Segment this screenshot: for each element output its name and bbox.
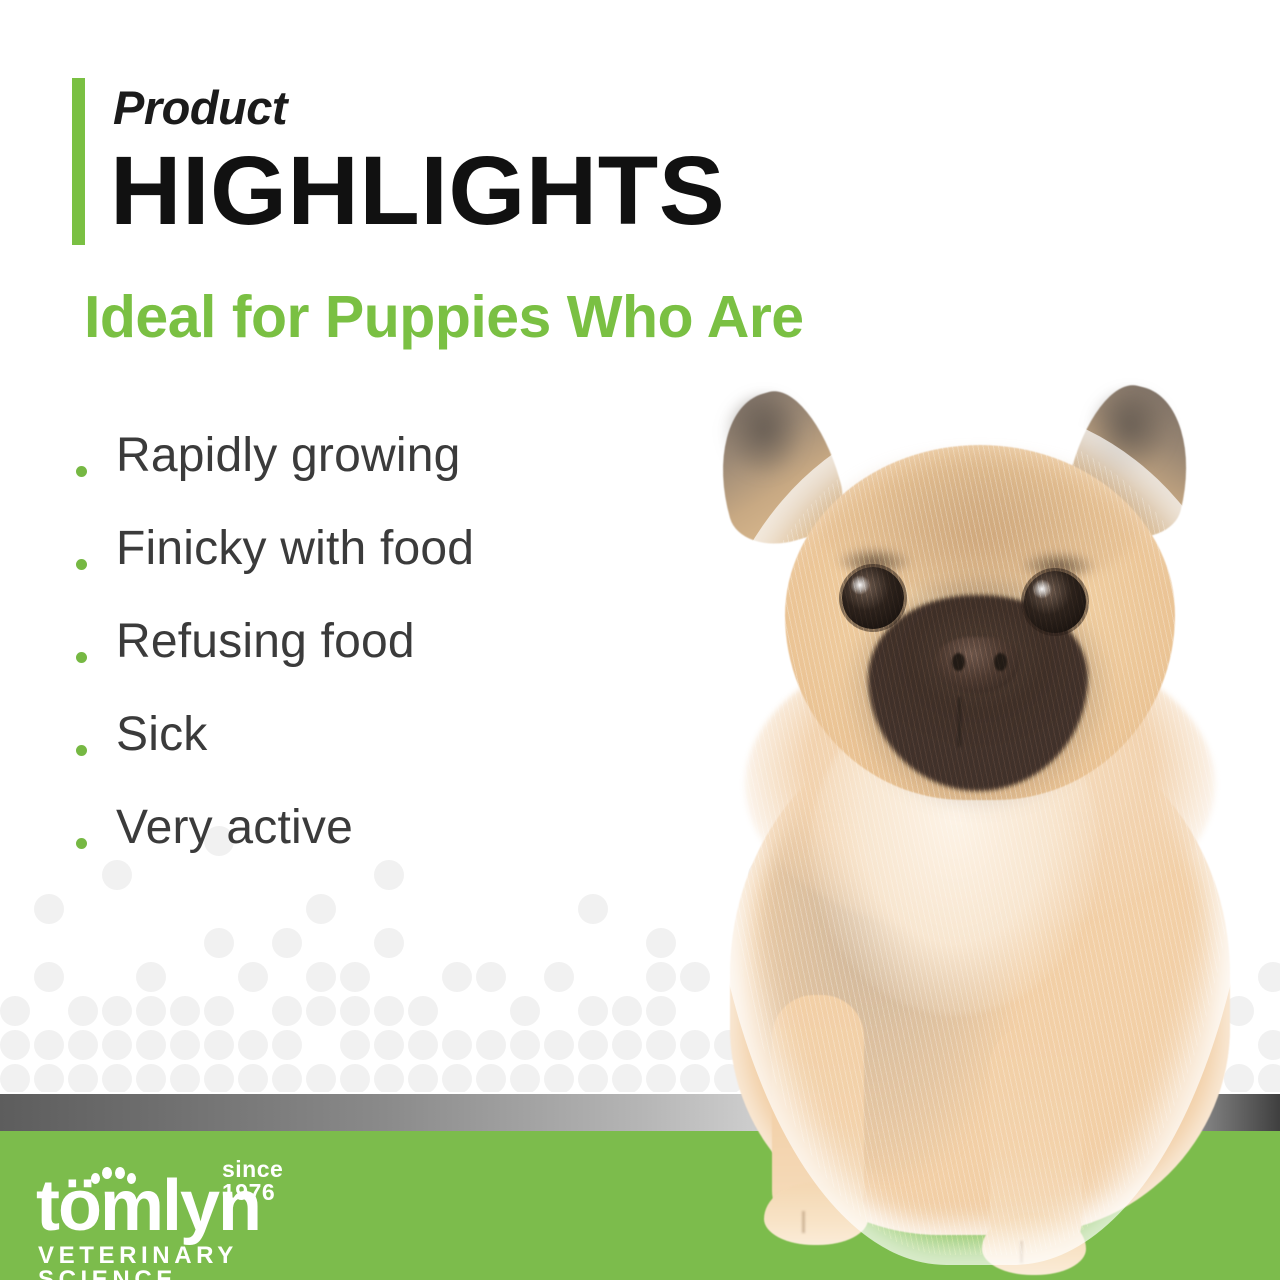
paw-print-icon: [89, 1164, 137, 1188]
list-item-label: Rapidly growing: [116, 429, 461, 482]
pomeranian-puppy-photo: [690, 385, 1270, 1280]
product-highlights-graphic: Product HIGHLIGHTS Ideal for Puppies Who…: [0, 0, 1280, 1280]
list-item-label: Very active: [116, 801, 353, 854]
green-accent-bar: [72, 78, 85, 245]
list-item-label: Finicky with food: [116, 522, 474, 575]
list-item-label: Sick: [116, 708, 207, 761]
logo-since-label: since 1976: [222, 1158, 336, 1204]
bullet-dot-icon: [76, 466, 87, 477]
tomlyn-logo: tömlyn since 1976 VETERINARY SCIENCE: [36, 1158, 336, 1264]
page-title: HIGHLIGHTS: [110, 142, 725, 239]
list-item: Refusing food: [70, 611, 690, 704]
bullet-dot-icon: [76, 838, 87, 849]
section-subtitle: Ideal for Puppies Who Are: [84, 288, 804, 347]
list-item: Rapidly growing: [70, 425, 690, 518]
list-item: Finicky with food: [70, 518, 690, 611]
bullet-dot-icon: [76, 559, 87, 570]
bullet-dot-icon: [76, 745, 87, 756]
eyebrow-label: Product: [113, 84, 287, 131]
list-item: Very active: [70, 797, 690, 890]
bullet-dot-icon: [76, 652, 87, 663]
highlights-list: Rapidly growing Finicky with food Refusi…: [70, 425, 690, 890]
list-item: Sick: [70, 704, 690, 797]
list-item-label: Refusing food: [116, 615, 415, 668]
logo-tagline: VETERINARY SCIENCE: [38, 1244, 336, 1280]
